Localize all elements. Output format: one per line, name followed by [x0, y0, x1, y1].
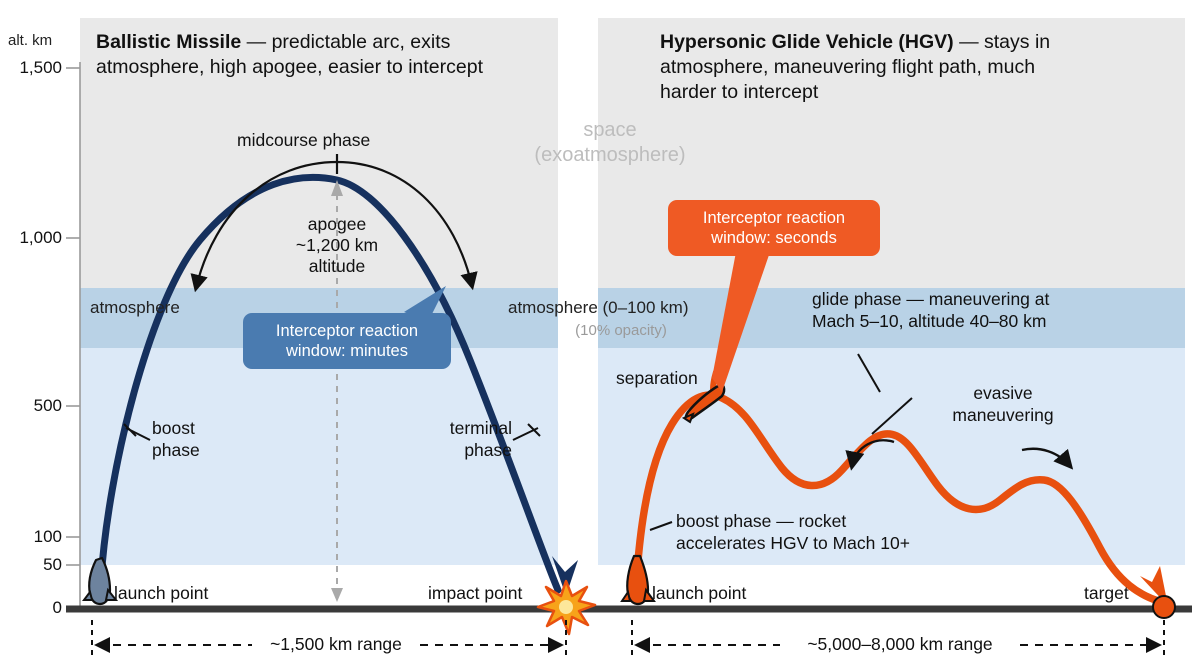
y-tick-100: 100	[0, 527, 62, 547]
left-panel-title: Ballistic Missile — predictable arc, exi…	[96, 30, 566, 55]
evasive-label-line2: maneuvering	[908, 405, 1098, 426]
left-title-rest: — predictable arc, exits	[241, 31, 450, 53]
hgv-boost-label-line2: accelerates HGV to Mach 10+	[676, 533, 910, 554]
space-band-label-line2: (exoatmosphere)	[480, 143, 740, 168]
boost-phase-label-line2: phase	[152, 440, 200, 461]
interceptor-callout-ballistic-line1: Interceptor reaction	[255, 321, 439, 341]
target-label: target	[1084, 583, 1129, 604]
launch-point-label-right: launch point	[652, 583, 746, 604]
range-label-ballistic: ~1,500 km range	[252, 634, 420, 655]
range-label-hgv: ~5,000–8,000 km range	[780, 634, 1020, 655]
y-tick-1000: 1,000	[0, 228, 62, 248]
apogee-label-line1: apogee	[262, 214, 412, 235]
hgv-boost-label-line1: boost phase — rocket	[676, 511, 846, 532]
atmosphere-opacity-note: (10% opacity)	[508, 322, 734, 339]
separation-label: separation	[616, 368, 698, 389]
y-tick-0: 0	[0, 598, 62, 618]
launch-point-label-left: launch point	[114, 583, 208, 604]
apogee-label-line3: altitude	[262, 256, 412, 277]
interceptor-callout-ballistic-line2: window: minutes	[255, 341, 439, 361]
right-panel-title-line3: harder to intercept	[660, 80, 1170, 105]
impact-point-label: impact point	[428, 583, 522, 604]
terminal-phase-label-line1: terminal	[390, 418, 512, 439]
midcourse-phase-label: midcourse phase	[237, 130, 370, 151]
atmosphere-label-left: atmosphere	[90, 298, 180, 318]
interceptor-callout-hgv-line2: window: seconds	[680, 228, 868, 248]
right-panel-title-line2: atmosphere, maneuvering flight path, muc…	[660, 55, 1170, 80]
y-tick-500: 500	[0, 396, 62, 416]
interceptor-callout-ballistic[interactable]: Interceptor reaction window: minutes	[243, 313, 451, 369]
evasive-label-line1: evasive	[908, 383, 1098, 404]
atmosphere-label-right: atmosphere (0–100 km)	[508, 298, 688, 318]
terminal-phase-label-line2: phase	[390, 440, 512, 461]
glide-phase-label-line1: glide phase — maneuvering at	[812, 289, 1049, 310]
boost-phase-label-line1: boost	[152, 418, 195, 439]
diagram-canvas: alt. km 1,500 1,000 500 100 50 0 Ballist…	[0, 0, 1200, 670]
axis-unit-label: alt. km	[8, 32, 52, 49]
right-title-rest: — stays in	[954, 31, 1050, 53]
y-tick-50: 50	[0, 555, 62, 575]
interceptor-callout-hgv[interactable]: Interceptor reaction window: seconds	[668, 200, 880, 256]
right-panel-title: Hypersonic Glide Vehicle (HGV) — stays i…	[660, 30, 1160, 55]
right-title-bold: Hypersonic Glide Vehicle (HGV)	[660, 31, 954, 53]
left-title-bold: Ballistic Missile	[96, 31, 241, 53]
space-band-label-line1: space	[500, 118, 720, 143]
glide-phase-label-line2: Mach 5–10, altitude 40–80 km	[812, 311, 1046, 332]
apogee-label-line2: ~1,200 km	[262, 235, 412, 256]
interceptor-callout-hgv-line1: Interceptor reaction	[680, 208, 868, 228]
y-tick-1500: 1,500	[0, 58, 62, 78]
left-panel-title-line2: atmosphere, high apogee, easier to inter…	[96, 55, 566, 80]
